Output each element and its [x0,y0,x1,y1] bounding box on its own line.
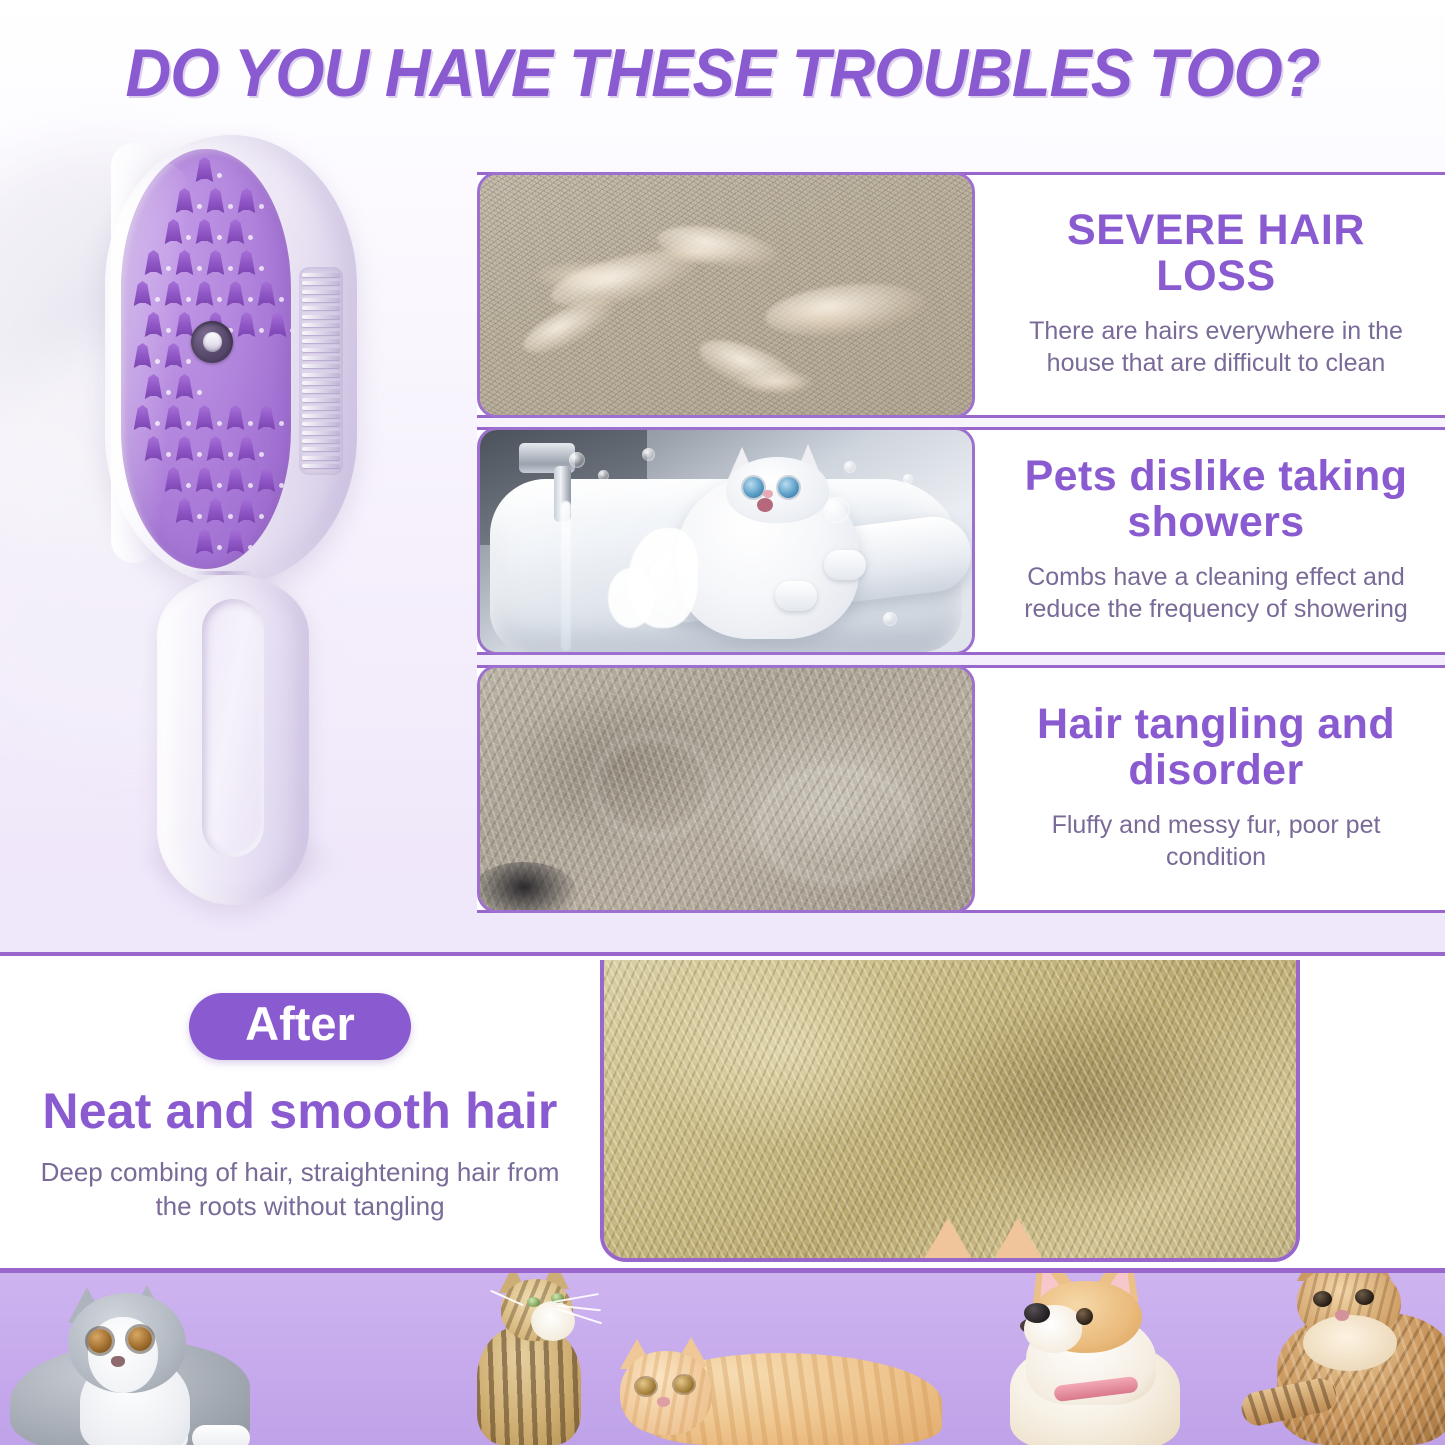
vent-rib [302,406,340,410]
pad-dot [228,452,233,457]
pad-dot [279,483,284,488]
cat-eye [778,477,799,498]
problem-heading: Hair tangling and disorder [1003,701,1429,794]
pad-dot [279,297,284,302]
pad-dot [290,328,291,333]
cat-eye [88,1329,112,1353]
vent-rib [302,331,340,335]
problem-row: SEVERE HAIR LOSS There are hairs everywh… [477,172,1445,418]
vent-rib [302,447,340,451]
bristle-tooth-icon [257,281,276,306]
cat-eye [743,477,764,498]
problem-heading: Pets dislike taking showers [1003,453,1429,546]
problem-text-block: Hair tangling and disorder Fluffy and me… [975,668,1445,910]
bristle-tooth-icon [226,529,245,554]
pad-dot [259,204,264,209]
problem-image-tangled-fur [477,665,975,913]
dog-nose [1024,1303,1050,1323]
bristle-tooth-icon [237,498,256,523]
fur-swirl [756,765,916,885]
vent-rib [302,422,340,426]
vent-rib [302,373,340,377]
bristle-tooth-icon [268,312,287,337]
animal-orange-tabby-cat [612,1325,942,1445]
bristle-tooth-icon [237,312,256,337]
brush-handle [157,575,309,905]
steam-nozzle-icon [191,321,233,363]
cat-nose [1335,1310,1349,1321]
problem-body: There are hairs everywhere in the house … [1003,315,1429,379]
pad-dot [217,421,222,426]
pad-dot [186,421,191,426]
vent-rib [302,456,340,460]
vent-rib [302,464,340,468]
pad-dot [186,297,191,302]
bristle-tooth-icon [195,281,214,306]
pad-dot [197,204,202,209]
animal-fluffy-brown-cat [1255,1268,1445,1445]
pad-dot [166,452,171,457]
vent-rib [302,348,340,352]
pad-dot [248,545,253,550]
problem-row: Pets dislike taking showers Combs have a… [477,427,1445,655]
bristle-tooth-icon [206,188,225,213]
vent-rib [302,323,340,327]
pad-dot [197,514,202,519]
pad-dot [259,514,264,519]
smooth-fur-texture [604,960,1296,1258]
pad-dot [166,328,171,333]
pad-dot [166,266,171,271]
pad-dot [217,235,222,240]
bristle-tooth-icon [195,529,214,554]
pad-dot [228,514,233,519]
problem-text-block: Pets dislike taking showers Combs have a… [975,430,1445,652]
product-image-steam-brush [95,135,385,895]
after-text-block: After Neat and smooth hair Deep combing … [0,956,600,1268]
nozzle-core [203,332,222,352]
handle-opening [202,599,264,857]
vent-rib [302,273,340,277]
bristle-tooth-icon [257,467,276,492]
bristle-tooth-icon [206,498,225,523]
bristle-tooth-icon [257,405,276,430]
bristle-tooth-icon [206,436,225,461]
problem-image-hair-on-carpet [477,172,975,418]
cat-neck-ruff [1303,1315,1397,1371]
problem-row: Hair tangling and disorder Fluffy and me… [477,665,1445,913]
pad-dot [259,452,264,457]
pad-dot [248,297,253,302]
pad-dot [217,173,222,178]
cat-nose [657,1397,670,1407]
pad-dot [248,235,253,240]
vent-rib [302,356,340,360]
cat-eye [636,1378,656,1395]
vent-rib [302,339,340,343]
cat-eye [527,1297,540,1307]
cat-paw [775,581,817,611]
pad-dot [186,483,191,488]
cat-nose [111,1356,125,1367]
pad-dot [217,483,222,488]
bristle-tooth-icon [226,219,245,244]
pad-dot [197,390,202,395]
bristle-tooth-icon [195,157,214,182]
water-bubble [598,470,609,481]
bristle-tooth-icon [195,467,214,492]
pad-dot [155,297,160,302]
pad-dot [259,266,264,271]
animal-sitting-tabby-cat [455,1268,605,1445]
after-heading: Neat and smooth hair [42,1082,557,1140]
vent-rib [302,389,340,393]
cat-head [620,1351,712,1435]
pad-dot [228,204,233,209]
pad-dot [217,545,222,550]
pad-dot [155,359,160,364]
pad-dot [228,266,233,271]
cat-eye [674,1376,694,1393]
vent-rib [302,306,340,310]
cat-eye [128,1327,152,1351]
vent-rib [302,414,340,418]
water-bubble [569,452,585,468]
housing-seam [191,571,255,575]
cat-paw [192,1425,250,1445]
vent-rib [302,298,340,302]
water-stream [561,501,571,651]
pad-dot [259,328,264,333]
pad-dot [166,390,171,395]
bristle-tooth-icon [237,188,256,213]
problem-heading: SEVERE HAIR LOSS [1003,207,1429,300]
pad-dot [155,421,160,426]
pad-dot [186,359,191,364]
pad-dot [248,483,253,488]
pad-dot [186,235,191,240]
pad-dot [197,266,202,271]
cat-paw [824,550,866,580]
cat-eye [1313,1291,1332,1307]
problem-text-block: SEVERE HAIR LOSS There are hairs everywh… [975,175,1445,415]
problem-image-cat-in-bathtub [477,427,975,655]
pad-dot [279,421,284,426]
bristle-tooth-icon [195,219,214,244]
bristle-tooth-icon [206,250,225,275]
water-bubble [824,497,850,523]
after-badge: After [189,993,411,1060]
bristle-tooth-icon [237,250,256,275]
vent-rib [302,364,340,368]
bristle-tooth-icon [237,436,256,461]
fur-swirl [588,731,718,841]
cat-body [477,1325,581,1445]
vent-rib [302,398,340,402]
after-image-smooth-fur [600,960,1300,1262]
pad-dot [248,421,253,426]
pad-dot [217,297,222,302]
after-body: Deep combing of hair, straightening hair… [40,1156,560,1224]
vent-rib [302,439,340,443]
cat-ear [992,1218,1044,1262]
bristle-tooth-icon [195,405,214,430]
vent-rib [302,315,340,319]
bottom-animal-strip [0,1268,1445,1445]
vent-strip [299,267,343,475]
after-section: After Neat and smooth hair Deep combing … [0,952,1445,1268]
problem-body: Fluffy and messy fur, poor pet condition [1003,809,1429,873]
bristle-tooth-icon [226,405,245,430]
vent-rib [302,290,340,294]
problem-body: Combs have a cleaning effect and reduce … [1003,561,1429,625]
infographic-page: DO YOU HAVE THESE TROUBLES TOO? [0,0,1445,1445]
vent-rib [302,431,340,435]
pad-dot [197,452,202,457]
page-title: DO YOU HAVE THESE TROUBLES TOO? [51,34,1395,112]
animal-corgi-dog [980,1269,1215,1445]
bristle-tooth-icon [226,281,245,306]
cat-eye [1355,1289,1374,1305]
animal-grey-white-cat [10,1276,260,1445]
cat-ear [922,1218,974,1262]
dog-eye [1076,1308,1093,1325]
bristle-tooth-icon [226,467,245,492]
vent-rib [302,281,340,285]
vent-rib [302,381,340,385]
water-splash [608,568,654,628]
